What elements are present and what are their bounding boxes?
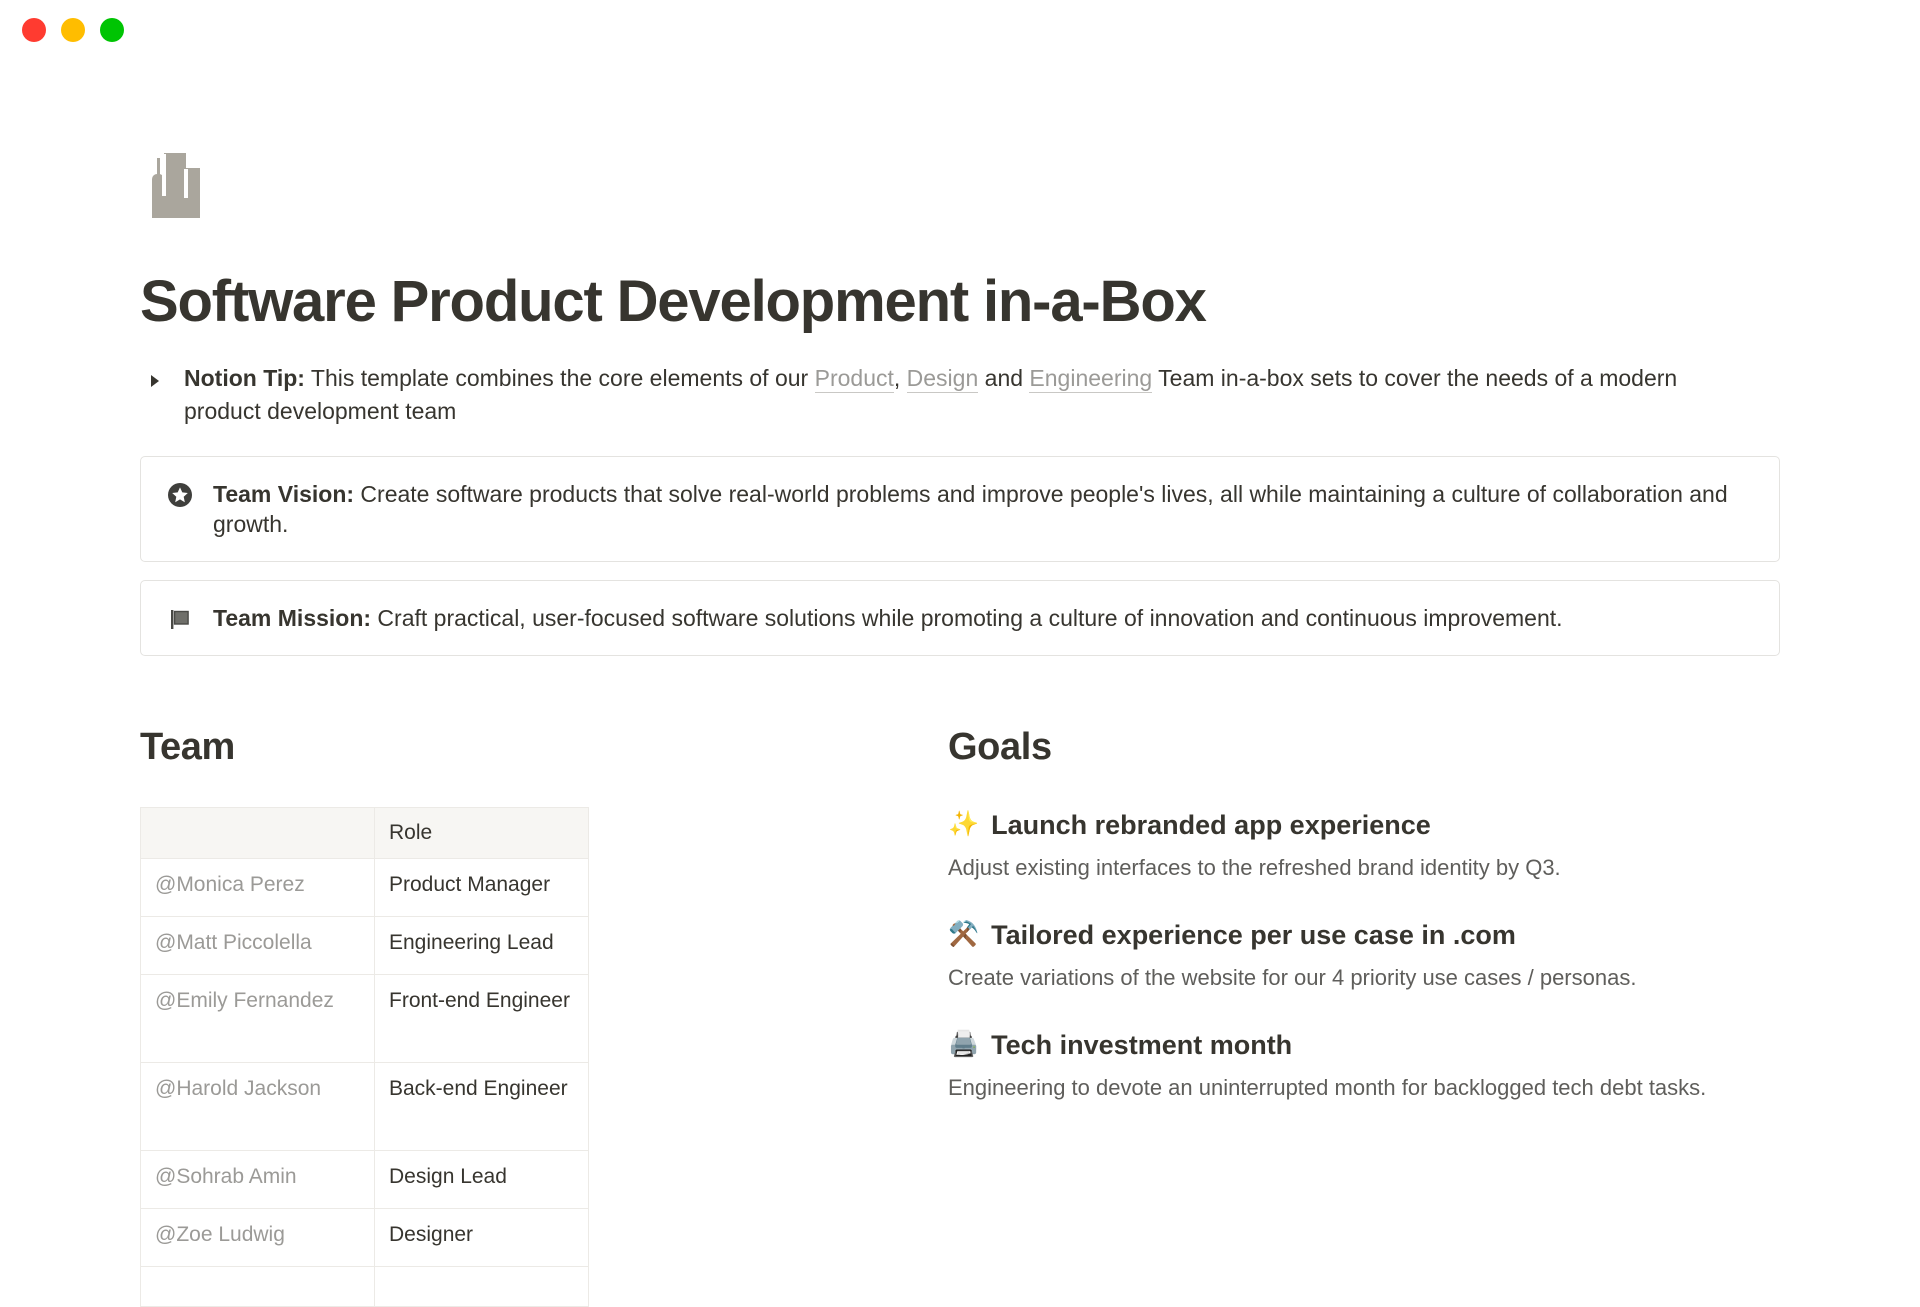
goal-title-row: ⚒️ Tailored experience per use case in .…: [948, 917, 1780, 953]
goal-description: Create variations of the website for our…: [948, 963, 1780, 993]
page-icon[interactable]: [140, 140, 220, 220]
callout-team-vision-body: Create software products that solve real…: [213, 481, 1728, 537]
table-row[interactable]: @Harold Jackson Back-end Engineer: [141, 1062, 589, 1150]
triangle-right-icon[interactable]: [148, 373, 172, 389]
notion-tip-sep-1: ,: [894, 365, 907, 391]
columns-layout: Team Role @Monica Perez: [140, 726, 1780, 1307]
notion-page: Software Product Development in-a-Box No…: [0, 60, 1920, 1307]
goal-title-row: 🖨️ Tech investment month: [948, 1027, 1780, 1063]
buildings-icon: [140, 140, 220, 220]
window-title-bar: [0, 0, 1920, 60]
table-row[interactable]: @Emily Fernandez Front-end Engineer: [141, 974, 589, 1062]
goal-title: Tech investment month: [991, 1027, 1292, 1063]
table-row[interactable]: @Zoe Ludwig Designer: [141, 1208, 589, 1266]
callout-team-mission-text: Team Mission: Craft practical, user-focu…: [213, 603, 1563, 633]
member-role[interactable]: Front-end Engineer: [375, 974, 589, 1062]
star-circle-icon: [167, 482, 193, 508]
callout-team-vision[interactable]: Team Vision: Create software products th…: [140, 456, 1780, 562]
goal-item: ✨ Launch rebranded app experience Adjust…: [948, 807, 1780, 883]
page-title: Software Product Development in-a-Box: [140, 270, 1780, 334]
goal-description: Engineering to devote an uninterrupted m…: [948, 1073, 1780, 1103]
notion-tip-text: Notion Tip: This template combines the c…: [184, 362, 1700, 428]
page-content: Software Product Development in-a-Box No…: [110, 140, 1810, 1307]
member-name[interactable]: @Monica Perez: [141, 858, 375, 916]
sparkles-emoji: ✨: [948, 812, 979, 837]
team-column: Team Role @Monica Perez: [140, 726, 840, 1307]
notion-tip-toggle[interactable]: Notion Tip: This template combines the c…: [140, 362, 1700, 428]
hammer-and-pick-emoji: ⚒️: [948, 922, 979, 947]
table-header-row: Role: [141, 807, 589, 858]
member-name[interactable]: @Zoe Ludwig: [141, 1208, 375, 1266]
member-role[interactable]: [375, 1266, 589, 1306]
notion-tip-before: This template combines the core elements…: [305, 365, 815, 391]
printer-emoji: 🖨️: [948, 1032, 979, 1057]
column-header-name[interactable]: [141, 807, 375, 858]
minimize-window-button[interactable]: [61, 18, 85, 42]
goal-item: 🖨️ Tech investment month Engineering to …: [948, 1027, 1780, 1103]
goals-column: Goals ✨ Launch rebranded app experience …: [900, 726, 1780, 1307]
flag-icon: [167, 606, 193, 632]
team-table[interactable]: Role @Monica Perez Product Manager @Matt…: [140, 807, 589, 1307]
link-product[interactable]: Product: [815, 365, 894, 393]
callout-team-mission[interactable]: Team Mission: Craft practical, user-focu…: [140, 580, 1780, 656]
table-row[interactable]: [141, 1266, 589, 1306]
column-header-role[interactable]: Role: [375, 807, 589, 858]
member-role[interactable]: Product Manager: [375, 858, 589, 916]
member-name[interactable]: @Harold Jackson: [141, 1062, 375, 1150]
member-name[interactable]: @Matt Piccolella: [141, 916, 375, 974]
goals-heading: Goals: [948, 726, 1780, 769]
member-role[interactable]: Designer: [375, 1208, 589, 1266]
goal-item: ⚒️ Tailored experience per use case in .…: [948, 917, 1780, 993]
callout-team-mission-label: Team Mission:: [213, 605, 371, 631]
team-table-header: Role: [141, 807, 589, 858]
team-table-body: @Monica Perez Product Manager @Matt Picc…: [141, 858, 589, 1306]
goal-title-row: ✨ Launch rebranded app experience: [948, 807, 1780, 843]
callout-team-vision-text: Team Vision: Create software products th…: [213, 479, 1753, 539]
notion-tip-label: Notion Tip:: [184, 365, 305, 391]
callout-team-vision-label: Team Vision:: [213, 481, 354, 507]
member-role[interactable]: Engineering Lead: [375, 916, 589, 974]
goal-description: Adjust existing interfaces to the refres…: [948, 853, 1780, 883]
link-engineering[interactable]: Engineering: [1029, 365, 1152, 393]
member-name[interactable]: [141, 1266, 375, 1306]
link-design[interactable]: Design: [907, 365, 979, 393]
table-row[interactable]: @Monica Perez Product Manager: [141, 858, 589, 916]
team-heading: Team: [140, 726, 840, 769]
table-row[interactable]: @Matt Piccolella Engineering Lead: [141, 916, 589, 974]
goal-title: Tailored experience per use case in .com: [991, 917, 1516, 953]
member-role[interactable]: Back-end Engineer: [375, 1062, 589, 1150]
callout-team-mission-body: Craft practical, user-focused software s…: [371, 605, 1563, 631]
member-name[interactable]: @Emily Fernandez: [141, 974, 375, 1062]
zoom-window-button[interactable]: [100, 18, 124, 42]
close-window-button[interactable]: [22, 18, 46, 42]
notion-tip-sep-2: and: [978, 365, 1029, 391]
goal-title: Launch rebranded app experience: [991, 807, 1431, 843]
